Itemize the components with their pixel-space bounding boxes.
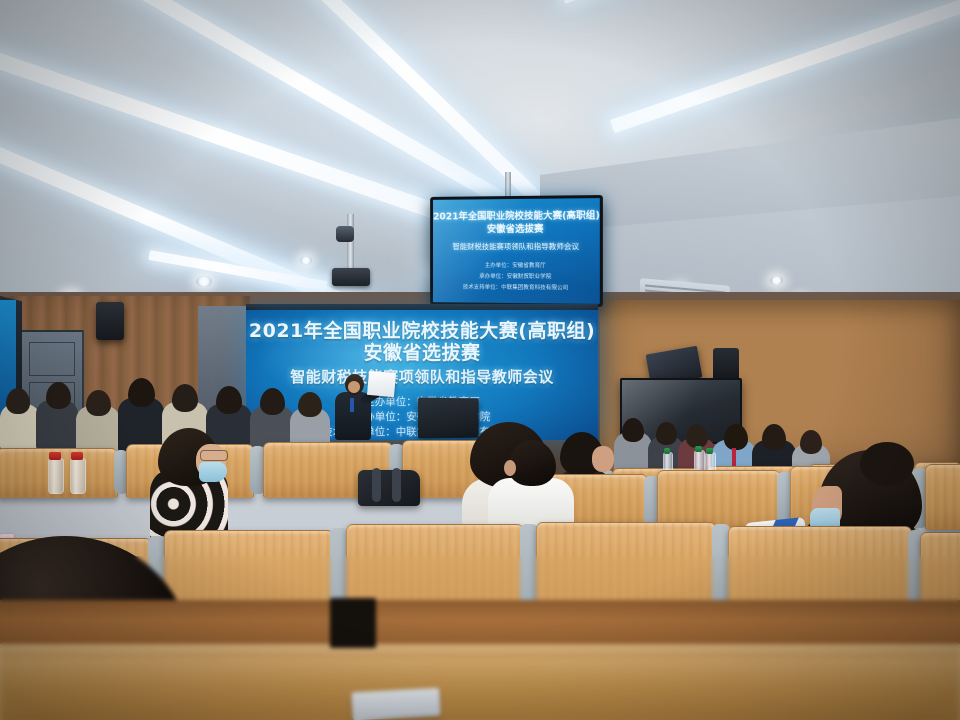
bottle-cap bbox=[706, 448, 713, 454]
bottle-cap bbox=[695, 446, 702, 452]
ceiling-projector bbox=[332, 268, 370, 286]
attendee-head bbox=[686, 424, 708, 448]
attendee-head bbox=[762, 424, 786, 450]
attendee-head bbox=[724, 424, 748, 450]
wall-speaker-left bbox=[96, 302, 124, 340]
attendee-face bbox=[592, 446, 614, 472]
attendee-head bbox=[298, 392, 322, 417]
attendee-lanyard bbox=[732, 448, 736, 468]
attendee-head bbox=[6, 388, 30, 414]
presenter-lanyard bbox=[350, 398, 354, 412]
conference-hall-photo: 2021年全国职业院校技能大赛(高职组) 安徽省选拔赛 智能财税技能赛项领队和指… bbox=[0, 0, 960, 720]
eyeglasses-icon bbox=[200, 450, 228, 461]
backpack-on-seat bbox=[358, 470, 420, 506]
attendee-head bbox=[800, 430, 822, 454]
presenter-paper bbox=[367, 371, 396, 397]
downlight-2 bbox=[196, 276, 212, 287]
seat-back bbox=[925, 464, 960, 530]
desk-surface bbox=[0, 648, 960, 720]
bottle-cap bbox=[664, 448, 670, 454]
hair-bun bbox=[860, 442, 914, 486]
bottle-cap bbox=[49, 452, 61, 460]
downlight-12 bbox=[300, 256, 312, 265]
attendee-head bbox=[656, 422, 677, 445]
lcd-screen-glare bbox=[433, 198, 600, 304]
attendee-head bbox=[128, 378, 155, 407]
ceiling-mounted-lcd: 2021年全国职业院校技能大赛(高职组) 安徽省选拔赛 智能财税技能赛项领队和指… bbox=[430, 195, 603, 307]
downlight-11 bbox=[770, 276, 783, 285]
ceiling-camera-icon bbox=[336, 226, 354, 242]
attendee-head bbox=[46, 382, 71, 409]
screen-subtitle: 智能财税技能赛项领队和指导教师会议 bbox=[246, 366, 598, 387]
water-bottle bbox=[70, 458, 86, 494]
projector-mount-pole bbox=[347, 214, 354, 274]
screen-title-line2: 安徽省选拔赛 bbox=[246, 338, 598, 365]
presenter-face bbox=[348, 381, 360, 393]
attendee-head bbox=[216, 386, 242, 414]
face-mask bbox=[199, 462, 227, 482]
water-bottle bbox=[48, 458, 64, 494]
laptop-on-table bbox=[418, 398, 479, 439]
backpack-strap bbox=[392, 468, 401, 502]
paper-on-desk bbox=[351, 688, 440, 720]
attendee-head bbox=[622, 418, 644, 442]
attendee-head bbox=[86, 390, 111, 416]
attendee-head bbox=[260, 388, 285, 415]
attendee-ear bbox=[504, 460, 516, 476]
bottle-cap bbox=[71, 452, 83, 460]
attendee-head bbox=[172, 384, 198, 412]
desk-gap-shadow bbox=[330, 598, 376, 648]
desk-front-panel bbox=[0, 600, 960, 650]
lcd-mount-arm bbox=[505, 172, 511, 198]
backpack-strap bbox=[372, 468, 381, 502]
